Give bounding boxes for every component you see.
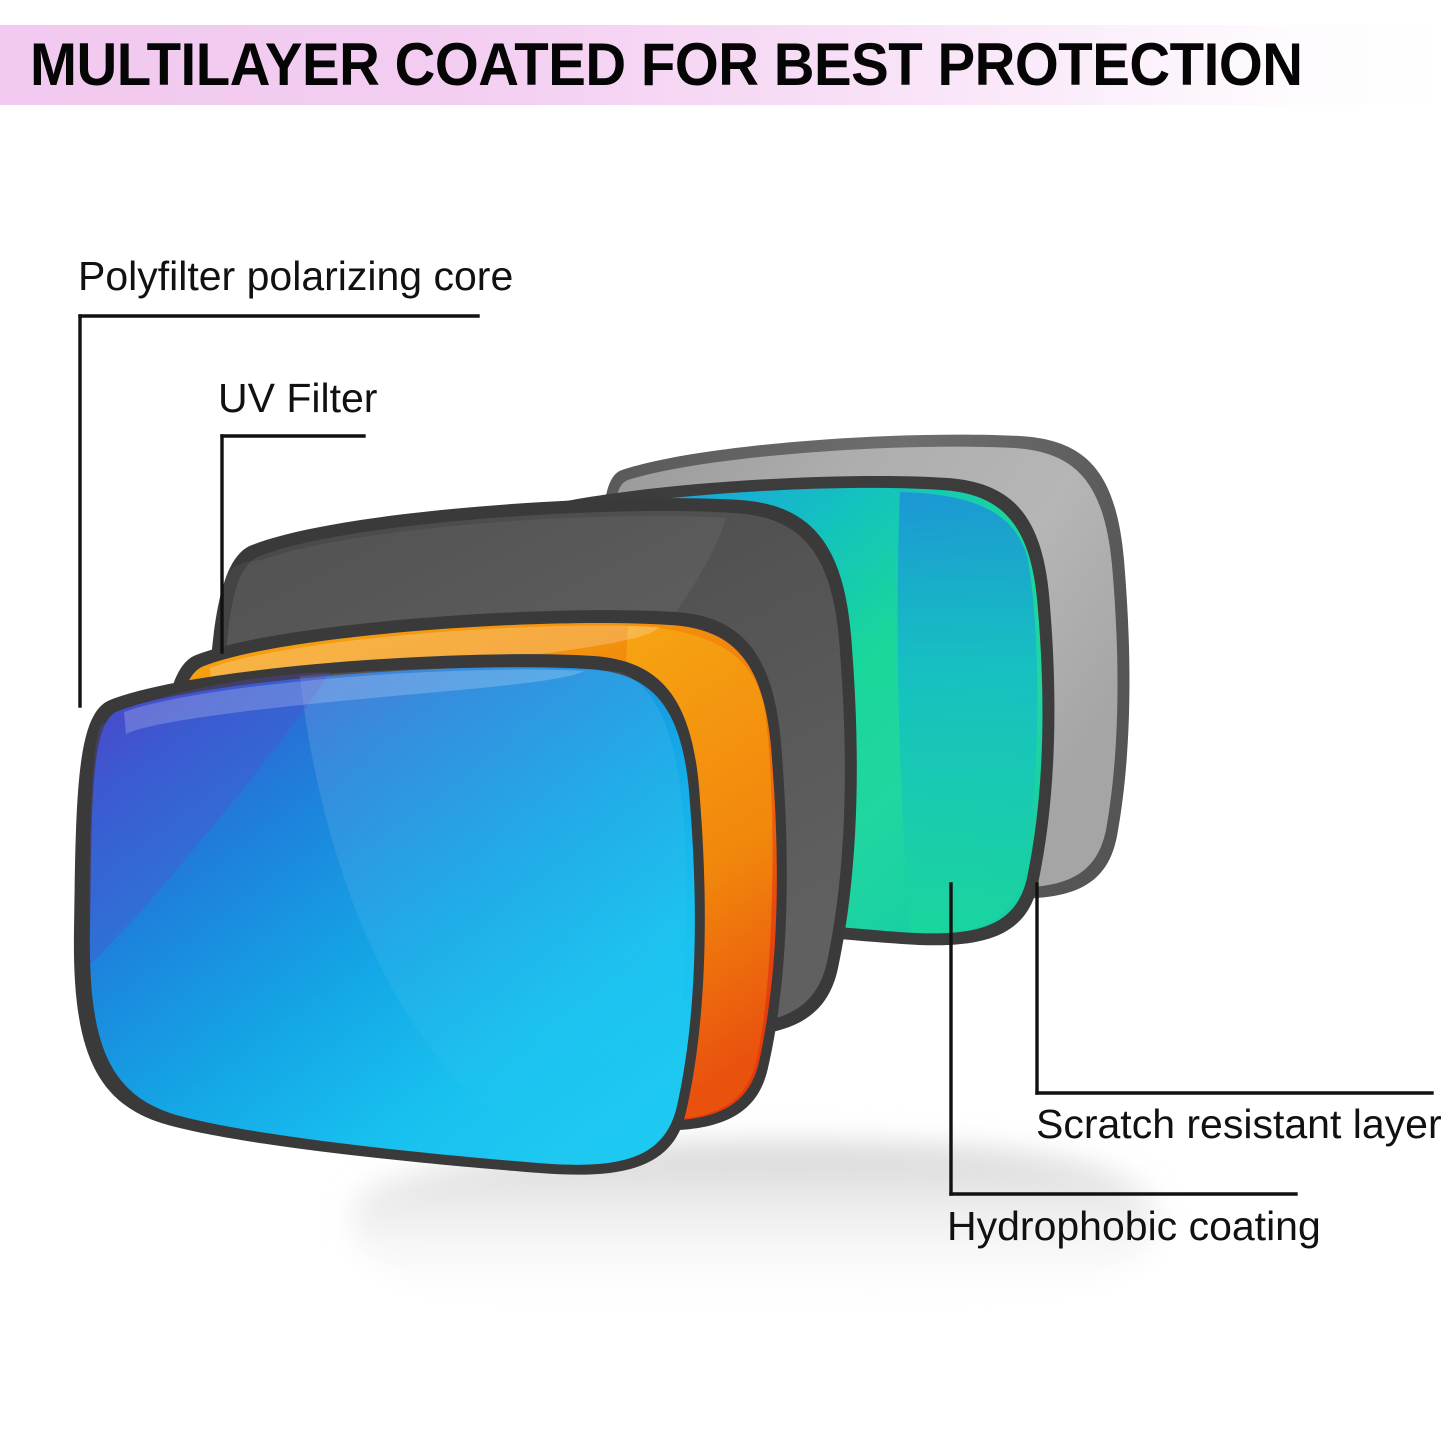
callout-label-scratch-resistant: Scratch resistant layer	[1036, 1104, 1442, 1145]
blue-polarizing-lens	[74, 654, 705, 1175]
callout-label-hydrophobic: Hydrophobic coating	[947, 1206, 1321, 1247]
callout-label-uv-filter: UV Filter	[218, 378, 377, 419]
callout-label-polyfilter: Polyfilter polarizing core	[78, 256, 513, 297]
infographic-page: MULTILAYER COATED FOR BEST PROTECTION	[0, 0, 1445, 1445]
